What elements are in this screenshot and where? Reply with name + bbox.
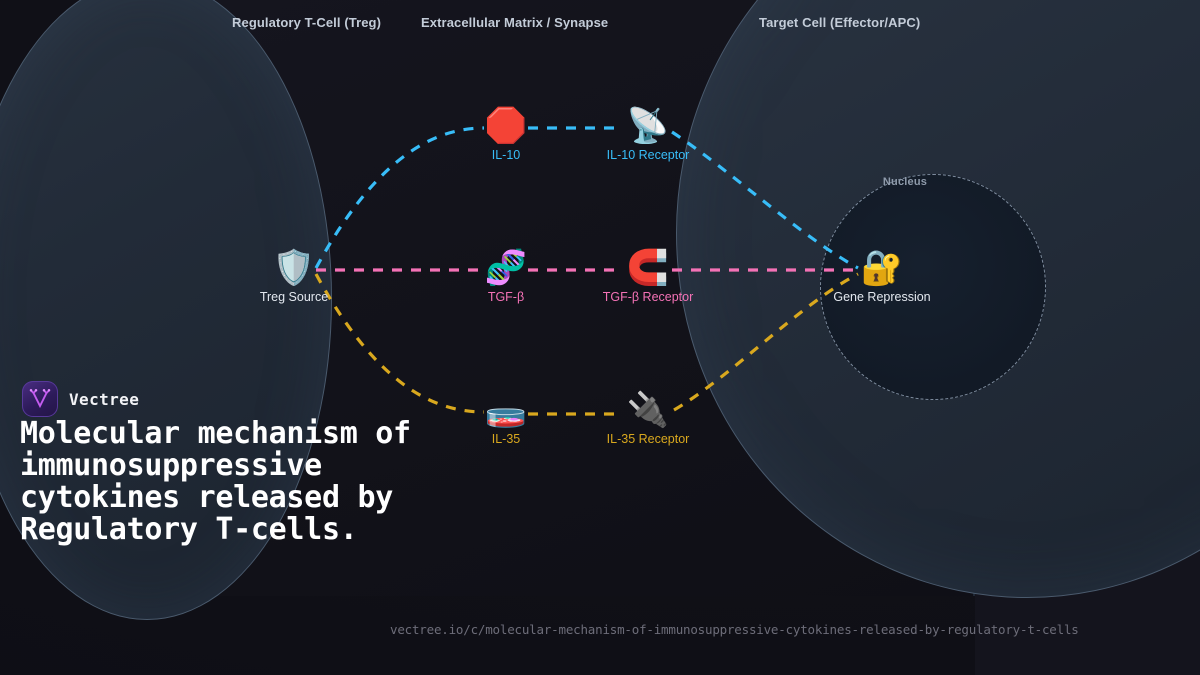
diagram-stage: Nucleus Regulatory T-Cell (Treg) Extrace… bbox=[0, 0, 1200, 675]
node-label-il10: IL-10 bbox=[446, 148, 566, 162]
node-il10-receptor[interactable]: 📡IL-10 Receptor bbox=[588, 106, 708, 162]
node-tgfb-receptor[interactable]: 🧲TGF-β Receptor bbox=[588, 248, 708, 304]
magnet-icon: 🧲 bbox=[588, 248, 708, 288]
node-label-il35-receptor: IL-35 Receptor bbox=[588, 432, 708, 446]
shield-icon: 🛡️ bbox=[234, 248, 354, 288]
brand: Vectree bbox=[22, 381, 139, 417]
node-label-tgfb-receptor: TGF-β Receptor bbox=[588, 290, 708, 304]
page-title: Molecular mechanism of immunosuppressive… bbox=[20, 418, 420, 546]
locked-with-key-icon: 🔐 bbox=[822, 248, 942, 288]
petri-dish-icon: 🧫 bbox=[446, 390, 566, 430]
node-label-il35: IL-35 bbox=[446, 432, 566, 446]
node-il35[interactable]: 🧫IL-35 bbox=[446, 390, 566, 446]
node-il35-receptor[interactable]: 🔌IL-35 Receptor bbox=[588, 390, 708, 446]
node-label-gene-repression: Gene Repression bbox=[822, 290, 942, 304]
stop-sign-icon: 🛑 bbox=[446, 106, 566, 146]
node-label-il10-receptor: IL-10 Receptor bbox=[588, 148, 708, 162]
node-label-tgfb: TGF-β bbox=[446, 290, 566, 304]
satellite-dish-icon: 📡 bbox=[588, 106, 708, 146]
brand-name: Vectree bbox=[69, 390, 139, 409]
page-url: vectree.io/c/molecular-mechanism-of-immu… bbox=[390, 622, 1079, 637]
node-label-treg-source: Treg Source bbox=[234, 290, 354, 304]
edge-layer bbox=[0, 0, 1200, 675]
dna-icon: 🧬 bbox=[446, 248, 566, 288]
node-tgfb[interactable]: 🧬TGF-β bbox=[446, 248, 566, 304]
node-il10[interactable]: 🛑IL-10 bbox=[446, 106, 566, 162]
node-treg-source[interactable]: 🛡️Treg Source bbox=[234, 248, 354, 304]
vectree-logo-icon bbox=[22, 381, 58, 417]
node-gene-repression[interactable]: 🔐Gene Repression bbox=[822, 248, 942, 304]
electric-plug-icon: 🔌 bbox=[588, 390, 708, 430]
